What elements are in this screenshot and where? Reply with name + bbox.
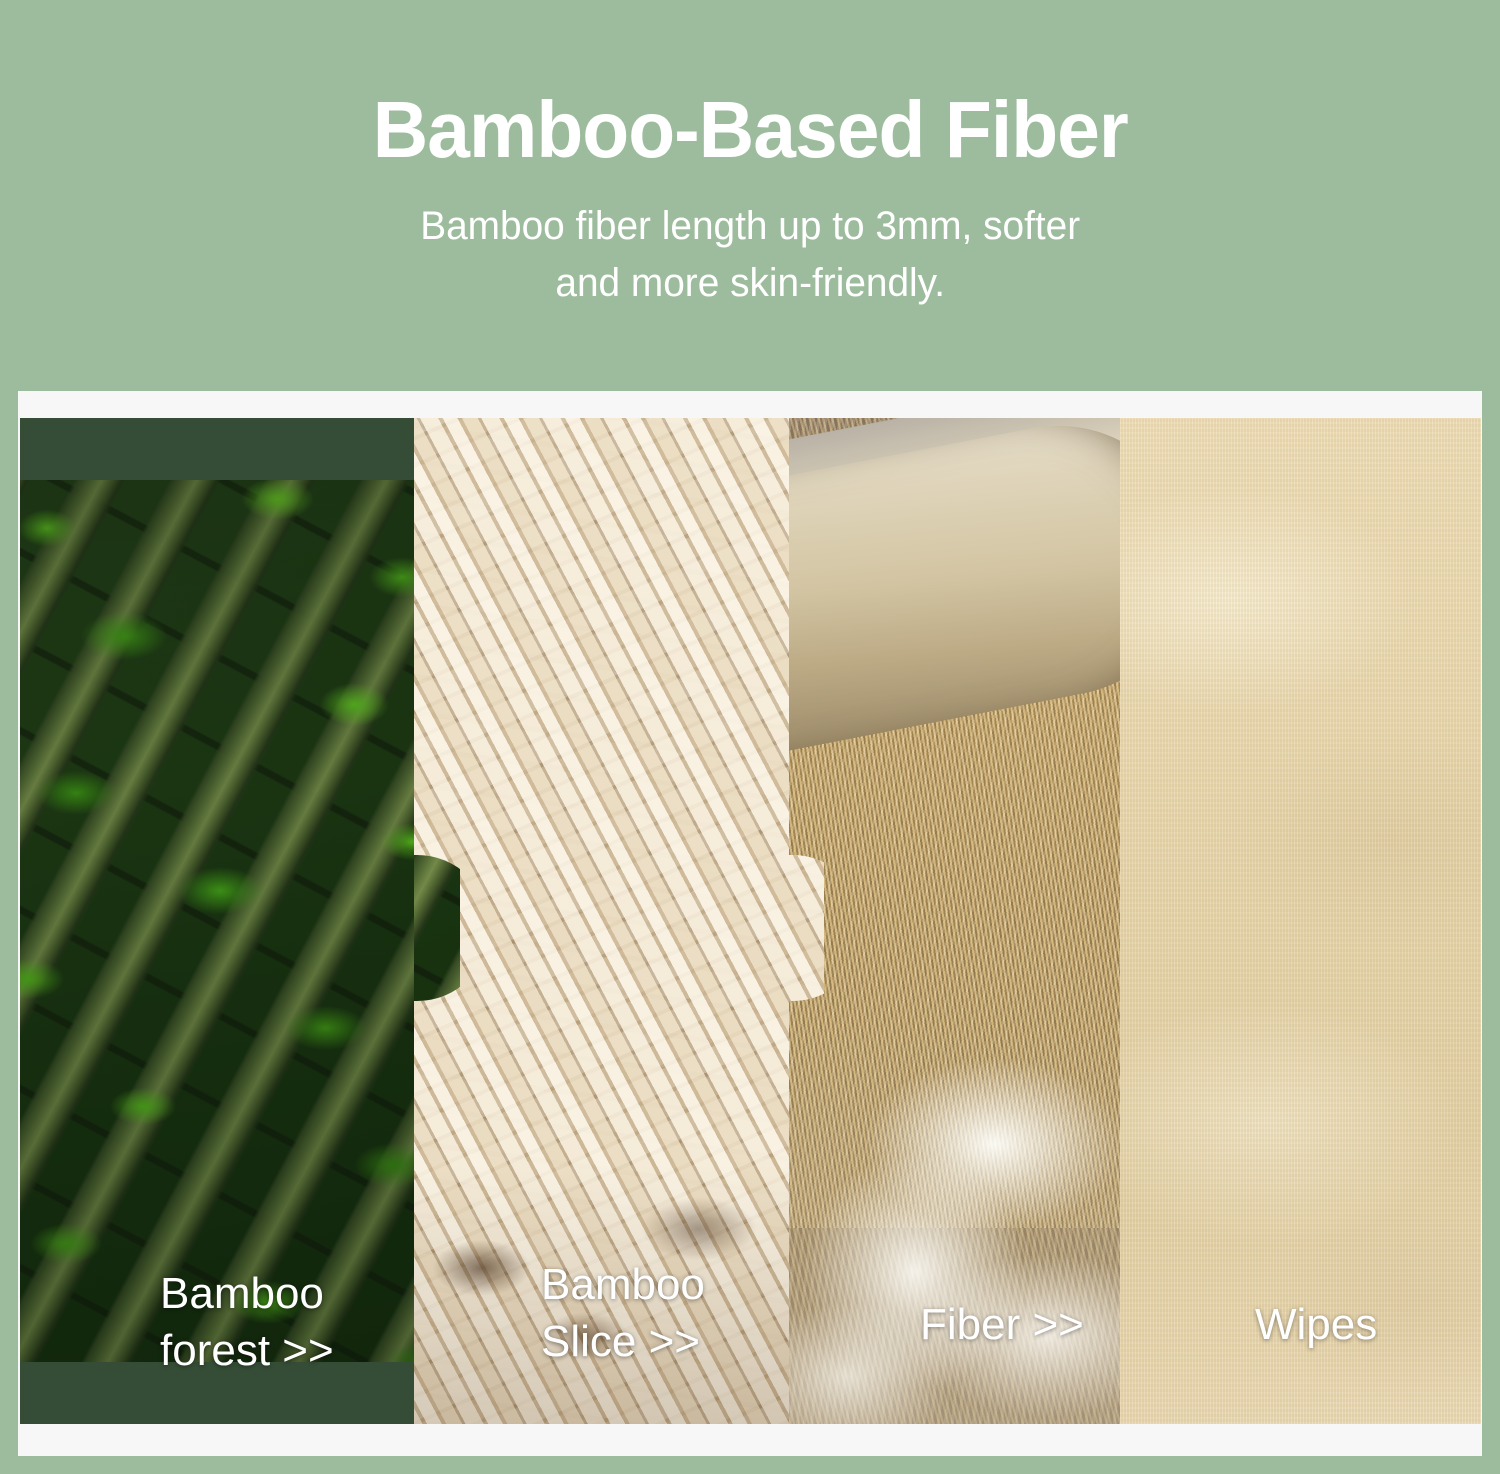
puzzle-tab-chips-texture (789, 855, 824, 1001)
bamboo-chips-shadow (414, 1164, 789, 1424)
page-subtitle: Bamboo fiber length up to 3mm, softer an… (420, 198, 1080, 312)
puzzle-tab-forest-texture (414, 855, 460, 1001)
page-subtitle-line-1: Bamboo fiber length up to 3mm, softer (420, 198, 1080, 255)
infographic-root: Bamboo-Based Fiber Bamboo fiber length u… (0, 0, 1500, 1474)
fiber-pulp-fluff (789, 1024, 1120, 1424)
bamboo-forest-shade (20, 480, 414, 1362)
process-step-bamboo-forest[interactable] (20, 418, 414, 1424)
header-banner: Bamboo-Based Fiber Bamboo fiber length u… (0, 0, 1500, 391)
canvas-bottom-gap (18, 1424, 1482, 1456)
process-flow-strip: Bamboo forest >> Bamboo Slice >> Fiber >… (20, 418, 1481, 1424)
canvas-top-gap (18, 391, 1482, 418)
bamboo-forest-photo (20, 480, 414, 1362)
page-subtitle-line-2: and more skin-friendly. (420, 255, 1080, 312)
page-title: Bamboo-Based Fiber (372, 88, 1127, 172)
